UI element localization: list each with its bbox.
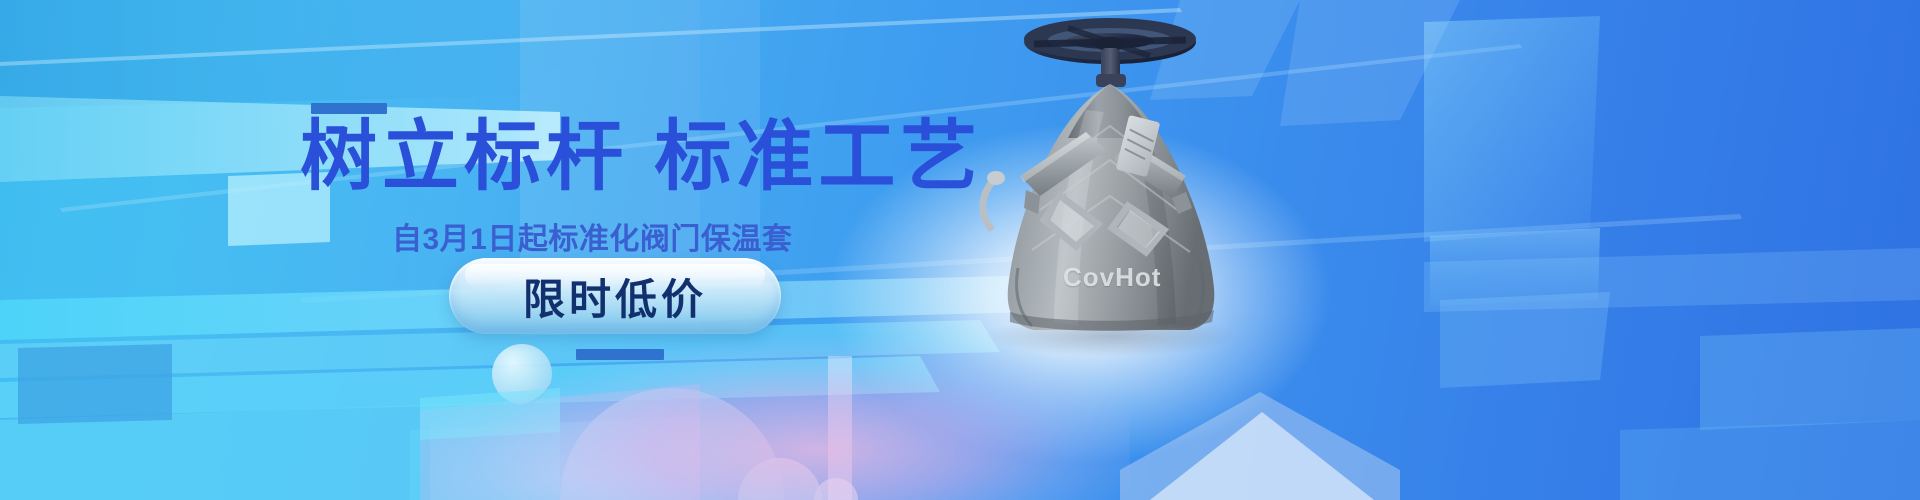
promo-banner: 树立标杆 标准工艺 自3月1日起标准化阀门保温套 限时低价: [0, 0, 1920, 500]
accent-dash-top: [311, 103, 387, 114]
subtitle: 自3月1日起标准化阀门保温套: [392, 214, 952, 258]
banner-content: 树立标杆 标准工艺 自3月1日起标准化阀门保温套 限时低价: [0, 0, 960, 500]
cta-button[interactable]: 限时低价: [449, 258, 781, 334]
accent-dash-bottom: [576, 349, 664, 360]
product-image: CovHot: [900, 0, 1320, 420]
page-title: 树立标杆 标准工艺: [300, 118, 940, 197]
cta-button-label: 限时低价: [523, 266, 707, 327]
